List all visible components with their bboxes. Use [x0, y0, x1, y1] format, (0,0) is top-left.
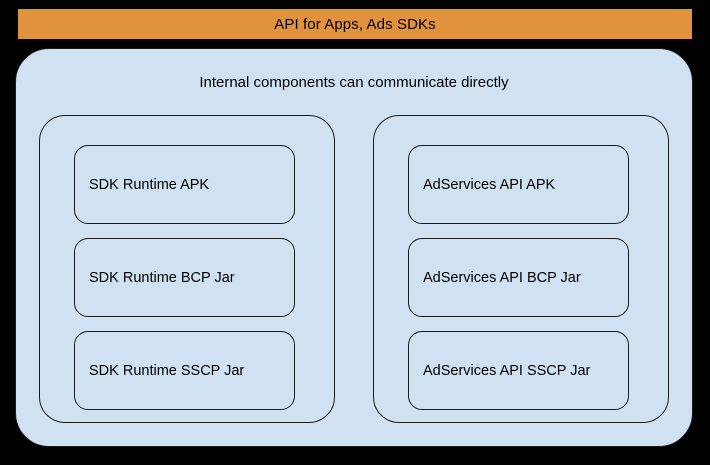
adservices-api-group: AdServices API APK AdServices API BCP Ja… [373, 115, 669, 423]
card-label: AdServices API SSCP Jar [409, 361, 604, 381]
card-label: AdServices API APK [409, 175, 569, 195]
sdk-runtime-group: SDK Runtime APK SDK Runtime BCP Jar SDK … [39, 115, 335, 423]
card-sdk-runtime-apk: SDK Runtime APK [74, 145, 295, 224]
internal-components-caption: Internal components can communicate dire… [16, 75, 692, 90]
card-label: AdServices API BCP Jar [409, 268, 595, 288]
diagram-canvas: API for Apps, Ads SDKs Internal componen… [0, 0, 710, 465]
card-adservices-api-sscp-jar: AdServices API SSCP Jar [408, 331, 629, 410]
card-label: SDK Runtime BCP Jar [75, 268, 249, 288]
card-sdk-runtime-bcp-jar: SDK Runtime BCP Jar [74, 238, 295, 317]
api-banner-label: API for Apps, Ads SDKs [274, 17, 435, 32]
card-sdk-runtime-sscp-jar: SDK Runtime SSCP Jar [74, 331, 295, 410]
internal-components-container: Internal components can communicate dire… [15, 48, 693, 447]
card-adservices-api-apk: AdServices API APK [408, 145, 629, 224]
api-banner: API for Apps, Ads SDKs [18, 9, 692, 39]
card-label: SDK Runtime SSCP Jar [75, 361, 258, 381]
card-adservices-api-bcp-jar: AdServices API BCP Jar [408, 238, 629, 317]
card-label: SDK Runtime APK [75, 175, 223, 195]
